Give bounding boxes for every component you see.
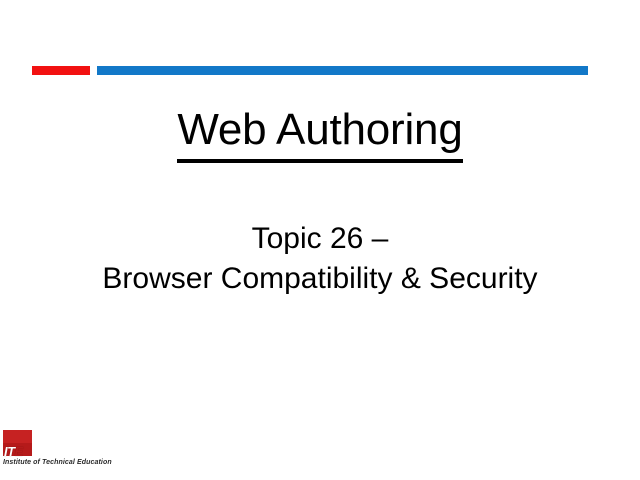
page-title-text: Web Authoring — [177, 104, 462, 163]
ite-logo-letters-it: IT — [4, 444, 15, 459]
subtitle-line-topic: Topic 26 – — [0, 219, 640, 259]
ite-logo-tagline: Institute of Technical Education — [3, 458, 139, 468]
subtitle-line-description: Browser Compatibility & Security — [0, 259, 640, 299]
ite-logo-letters-e: E — [15, 444, 23, 459]
ite-logo-letters: ITE — [4, 445, 38, 459]
ite-logo-mark-highlight — [3, 430, 32, 443]
accent-rule-red — [32, 66, 90, 75]
presentation-slide: Web Authoring Topic 26 – Browser Compati… — [0, 0, 640, 480]
page-title: Web Authoring — [0, 104, 640, 163]
title-accent-rules — [0, 66, 640, 76]
accent-rule-blue — [97, 66, 588, 75]
ite-logo: ITE Institute of Technical Education — [3, 430, 139, 474]
slide-subtitle: Topic 26 – Browser Compatibility & Secur… — [0, 219, 640, 299]
